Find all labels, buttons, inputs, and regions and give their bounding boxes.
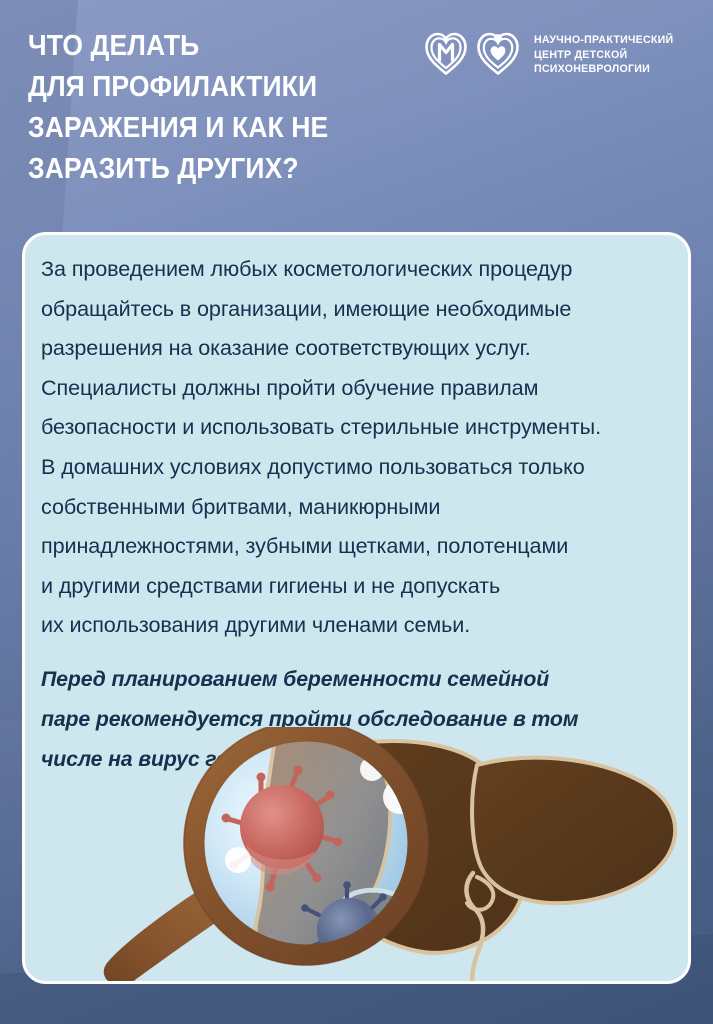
child-psychoneurology-heart-emblem xyxy=(476,30,520,76)
page-title: ЧТО ДЕЛАТЬ ДЛЯ ПРОФИЛАКТИКИ ЗАРАЖЕНИЯ И … xyxy=(28,26,400,190)
body-paragraph: За проведением любых косметологических п… xyxy=(41,249,681,645)
liver-magnifier-illustration xyxy=(25,727,691,984)
organization-name: НАУЧНО-ПРАКТИЧЕСКИЙ ЦЕНТР ДЕТСКОЙ ПСИХОН… xyxy=(534,33,673,77)
moscow-health-heart-m-emblem xyxy=(424,30,468,76)
liver-magnifier-graphic xyxy=(25,727,691,984)
organization-logo: НАУЧНО-ПРАКТИЧЕСКИЙ ЦЕНТР ДЕТСКОЙ ПСИХОН… xyxy=(424,30,681,77)
content-card: За проведением любых косметологических п… xyxy=(22,232,691,984)
poster-canvas: ЧТО ДЕЛАТЬ ДЛЯ ПРОФИЛАКТИКИ ЗАРАЖЕНИЯ И … xyxy=(0,0,713,1024)
poster-header: ЧТО ДЕЛАТЬ ДЛЯ ПРОФИЛАКТИКИ ЗАРАЖЕНИЯ И … xyxy=(0,0,713,222)
